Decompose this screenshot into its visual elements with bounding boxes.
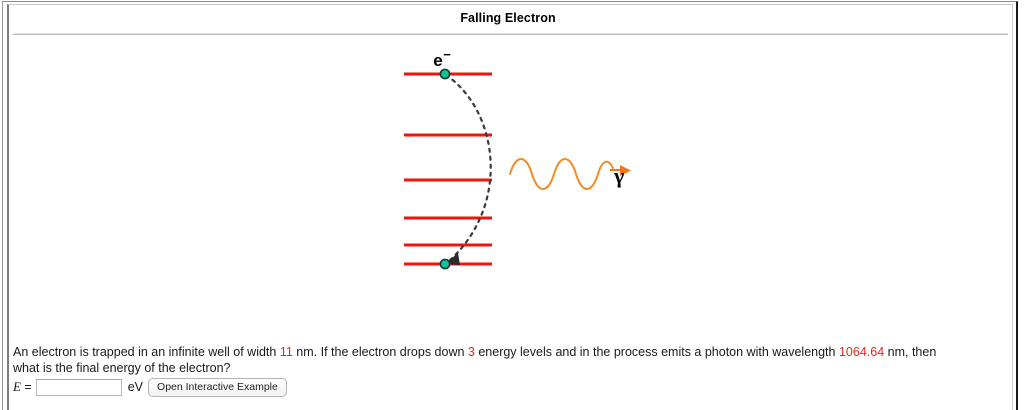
electron-dot-final <box>440 259 449 268</box>
energy-level-lines <box>404 74 492 264</box>
energy-level-diagram: e − γ <box>330 40 690 290</box>
question-text: An electron is trapped in an infinite we… <box>13 345 1008 376</box>
electron-dot-initial <box>440 69 449 78</box>
answer-row: E = eV Open Interactive Example <box>13 377 287 397</box>
question-text-part-b: nm. If the electron drops down <box>293 345 468 359</box>
question-line-2: what is the final energy of the electron… <box>13 361 1008 377</box>
open-interactive-example-button[interactable]: Open Interactive Example <box>148 378 287 397</box>
levels-dropped-value: 3 <box>468 345 475 359</box>
question-text-part-a: An electron is trapped in an infinite we… <box>13 345 280 359</box>
energy-units-label: eV <box>128 380 143 394</box>
title-divider <box>13 33 1008 35</box>
question-text-part-c: energy levels and in the process emits a… <box>475 345 839 359</box>
photon-wave <box>510 159 613 189</box>
page-title: Falling Electron <box>13 11 1003 25</box>
electron-label: e <box>433 51 442 70</box>
question-text-part-d: nm, then <box>884 345 936 359</box>
photon-label: γ <box>613 163 624 188</box>
falling-electron-window: Falling Electron e <box>0 0 1024 410</box>
wavelength-value: 1064.64 <box>839 345 884 359</box>
well-width-value: 11 <box>280 345 293 359</box>
energy-label: E = <box>13 379 32 395</box>
electron-transition-arrow <box>446 75 491 262</box>
electron-label-charge: − <box>443 47 451 62</box>
question-line-1: An electron is trapped in an infinite we… <box>13 345 1008 361</box>
energy-input[interactable] <box>36 379 122 396</box>
